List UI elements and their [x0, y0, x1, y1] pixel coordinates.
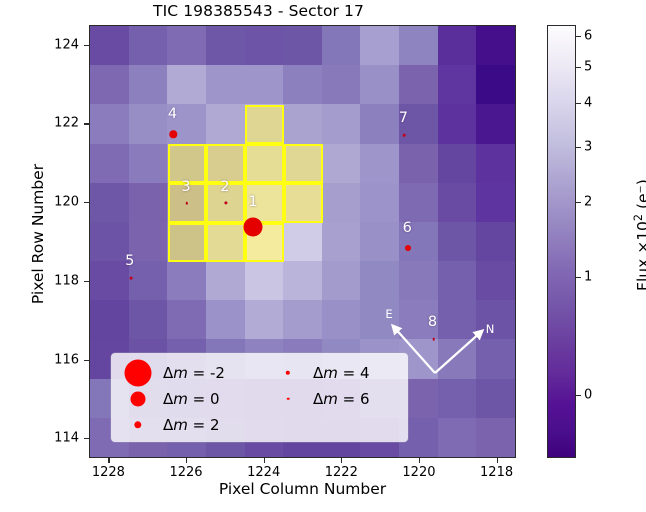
y-tick-label: 120 [47, 195, 79, 210]
heatmap-cell [360, 144, 399, 183]
colorbar-tick [576, 36, 581, 37]
heatmap-cell [129, 261, 168, 300]
legend-row: Δm = 2 [111, 411, 261, 438]
y-tick [84, 281, 89, 282]
x-tick-label: 1218 [480, 465, 513, 480]
star-label: 4 [168, 106, 177, 122]
y-tick [84, 202, 89, 203]
heatmap-cell [283, 144, 322, 183]
heatmap-cell [399, 144, 438, 183]
heatmap-cell [438, 222, 477, 261]
heatmap-cell [322, 261, 361, 300]
heatmap-cell [322, 222, 361, 261]
y-tick [84, 123, 89, 124]
colorbar-tick-label: 6 [584, 29, 592, 44]
x-tick [341, 458, 342, 463]
legend-label: Δm = -2 [163, 364, 225, 382]
heatmap-cell [129, 222, 168, 261]
y-tick-label: 122 [47, 116, 79, 131]
star-label: 7 [399, 110, 408, 126]
heatmap-cell [438, 183, 477, 222]
heatmap-cell [360, 222, 399, 261]
heatmap-cell [399, 261, 438, 300]
heatmap-cell [90, 65, 129, 104]
heatmap-cell [476, 339, 515, 378]
x-tick [264, 458, 265, 463]
heatmap-cell [167, 261, 206, 300]
x-tick-label: 1220 [402, 465, 435, 480]
compass-north-label: N [486, 322, 495, 336]
legend-label: Δm = 4 [313, 364, 370, 382]
heatmap-cell [167, 300, 206, 339]
heatmap-cell [129, 104, 168, 143]
legend-marker [125, 359, 152, 386]
heatmap-cell [399, 65, 438, 104]
colorbar-tick [576, 395, 581, 396]
colorbar-tick-label: 2 [584, 195, 592, 210]
x-tick-label: 1228 [92, 465, 125, 480]
legend-label: Δm = 0 [163, 390, 220, 408]
y-axis-label: Pixel Row Number [29, 104, 47, 364]
heatmap-cell [283, 104, 322, 143]
heatmap-cell [322, 183, 361, 222]
heatmap-cell [245, 26, 284, 65]
heatmap-cell [438, 339, 477, 378]
star-marker[interactable] [244, 217, 263, 236]
figure-canvas: TIC 198385543 - Sector 17 12345678 E N Δ… [0, 0, 646, 512]
x-tick [419, 458, 420, 463]
star-label: 6 [403, 220, 412, 236]
colorbar [547, 25, 576, 458]
heatmap-cell [283, 26, 322, 65]
y-tick-label: 114 [47, 431, 79, 446]
heatmap-cell [129, 26, 168, 65]
heatmap-cell [283, 261, 322, 300]
colorbar-tick [576, 147, 581, 148]
heatmap-cell [245, 300, 284, 339]
heatmap-cell [322, 144, 361, 183]
colorbar-tick-label: 3 [584, 140, 592, 155]
heatmap-cell [476, 65, 515, 104]
x-axis-label: Pixel Column Number [89, 480, 516, 498]
star-label: 3 [181, 179, 190, 195]
heatmap-cell [438, 379, 477, 418]
star-label: 8 [428, 314, 437, 330]
heatmap-cell [438, 144, 477, 183]
y-tick-label: 124 [47, 37, 79, 52]
heatmap-cell [283, 222, 322, 261]
colorbar-tick [576, 202, 581, 203]
heatmap-cell [322, 26, 361, 65]
heatmap-cell [476, 183, 515, 222]
heatmap-cell [360, 104, 399, 143]
star-marker[interactable] [403, 134, 406, 137]
y-tick [84, 438, 89, 439]
star-label: 2 [220, 179, 229, 195]
heatmap-cell [206, 104, 245, 143]
heatmap-cell [90, 104, 129, 143]
heatmap-cell [167, 144, 206, 183]
heatmap-cell [399, 26, 438, 65]
star-marker[interactable] [129, 277, 132, 280]
heatmap-cell [90, 26, 129, 65]
heatmap-cell [206, 222, 245, 261]
heatmap-cell [206, 65, 245, 104]
compass-east-label: E [385, 307, 392, 321]
heatmap-cell [322, 300, 361, 339]
heatmap-cell [245, 144, 284, 183]
heatmap-cell [245, 104, 284, 143]
heatmap-cell [283, 300, 322, 339]
colorbar-label-exponent: 2 [632, 214, 645, 221]
heatmap-cell [206, 261, 245, 300]
y-tick [84, 45, 89, 46]
heatmap-cell [476, 26, 515, 65]
heatmap-cell [438, 300, 477, 339]
heatmap-cell [129, 65, 168, 104]
colorbar-label-unit: (e⁻) [634, 179, 646, 214]
colorbar-label: Flux ×102 (e⁻) [632, 105, 646, 365]
heatmap-cell [360, 261, 399, 300]
heatmap-cell [399, 183, 438, 222]
legend-label: Δm = 2 [163, 416, 220, 434]
heatmap-cell [438, 26, 477, 65]
colorbar-tick [576, 103, 581, 104]
colorbar-tick-label: 1 [584, 270, 592, 285]
colorbar-tick-label: 0 [584, 387, 592, 402]
legend-row: Δm = -2 [111, 359, 261, 386]
legend-marker [286, 370, 290, 374]
heatmap-cell [476, 300, 515, 339]
heatmap-cell [90, 183, 129, 222]
heatmap-cell [438, 418, 477, 457]
heatmap-cell [322, 65, 361, 104]
x-tick [186, 458, 187, 463]
heatmap-cell [283, 65, 322, 104]
x-tick [108, 458, 109, 463]
heatmap-cell [360, 65, 399, 104]
colorbar-tick-label: 5 [584, 60, 592, 75]
star-label: 1 [248, 194, 257, 210]
colorbar-label-text: Flux ×10 [634, 221, 646, 291]
legend-marker [134, 421, 141, 428]
heatmap-cell [438, 104, 477, 143]
heatmap-cell [438, 261, 477, 300]
y-tick-label: 116 [47, 352, 79, 367]
legend-row: Δm = 4 [261, 359, 411, 386]
heatmap-cell [90, 144, 129, 183]
heatmap-cell [90, 222, 129, 261]
colorbar-tick [576, 277, 581, 278]
legend-marker [131, 391, 146, 406]
heatmap-cell [245, 261, 284, 300]
heatmap-cell [360, 183, 399, 222]
heatmap-cell [476, 261, 515, 300]
heatmap-cell [438, 65, 477, 104]
heatmap-cell [206, 144, 245, 183]
pixel-image-axes[interactable]: 12345678 E N Δm = -2Δm = 0Δm = 2Δm = 4Δm… [89, 25, 516, 458]
y-tick-label: 118 [47, 273, 79, 288]
heatmap-cell [476, 104, 515, 143]
heatmap-cell [360, 26, 399, 65]
heatmap-cell [129, 300, 168, 339]
star-label: 5 [125, 253, 134, 269]
legend-row: Δm = 0 [111, 385, 261, 412]
heatmap-cell [129, 144, 168, 183]
x-tick-label: 1226 [169, 465, 202, 480]
heatmap-cell [167, 65, 206, 104]
heatmap-cell [167, 222, 206, 261]
heatmap-cell [90, 261, 129, 300]
heatmap-cell [476, 222, 515, 261]
heatmap-cell [129, 183, 168, 222]
plot-title: TIC 198385543 - Sector 17 [0, 2, 517, 20]
heatmap-cell [476, 144, 515, 183]
colorbar-tick [576, 67, 581, 68]
heatmap-cell [206, 26, 245, 65]
heatmap-cell [245, 65, 284, 104]
colorbar-tick-label: 4 [584, 96, 592, 111]
y-tick [84, 360, 89, 361]
heatmap-cell [476, 418, 515, 457]
star-marker[interactable] [405, 245, 411, 251]
heatmap-cell [283, 183, 322, 222]
heatmap-cell [476, 379, 515, 418]
x-tick-label: 1224 [247, 465, 280, 480]
heatmap-cell [90, 300, 129, 339]
x-tick-label: 1222 [325, 465, 358, 480]
legend-row: Δm = 6 [261, 385, 411, 412]
magnitude-legend: Δm = -2Δm = 0Δm = 2Δm = 4Δm = 6 [111, 353, 408, 442]
x-tick [497, 458, 498, 463]
star-marker[interactable] [432, 338, 435, 341]
heatmap-cell [206, 300, 245, 339]
heatmap-cell [360, 300, 399, 339]
heatmap-cell [167, 26, 206, 65]
legend-marker [287, 397, 290, 400]
legend-label: Δm = 6 [313, 390, 370, 408]
heatmap-cell [322, 104, 361, 143]
